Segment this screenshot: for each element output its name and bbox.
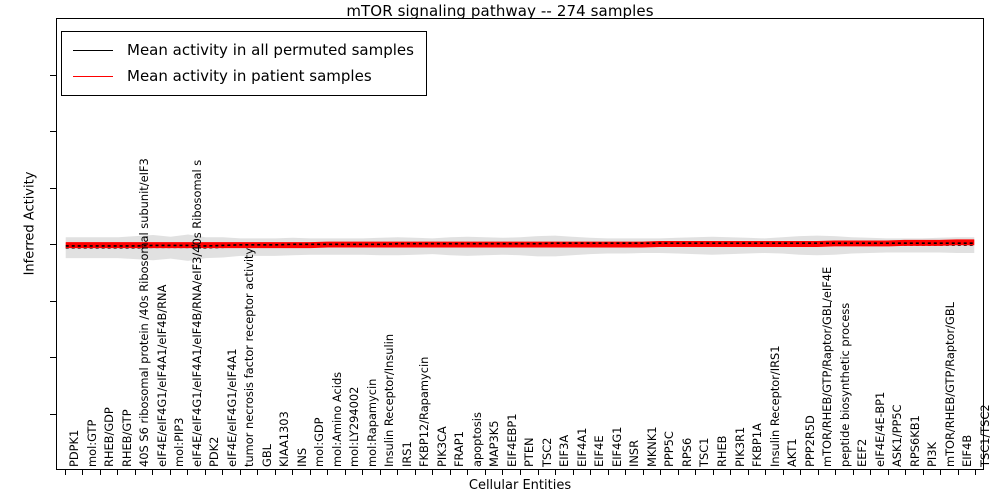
x-tick-label[interactable]: EIF4B xyxy=(962,435,973,467)
x-tick-label[interactable]: Insulin Receptor/IRS1 xyxy=(770,345,781,467)
x-tick-label[interactable]: RHEB xyxy=(717,436,728,468)
x-tick-mark xyxy=(835,470,836,475)
x-tick-label[interactable]: EEF2 xyxy=(857,439,868,467)
x-tick-mark xyxy=(380,470,381,475)
x-tick-label[interactable]: RPS6KB1 xyxy=(910,415,921,467)
x-tick-mark xyxy=(538,470,539,475)
x-tick-label[interactable]: PDK2 xyxy=(209,437,220,467)
x-tick-mark xyxy=(100,470,101,475)
x-tick-label[interactable]: PTEN xyxy=(524,437,535,467)
chart-figure: mTOR signaling pathway -- 274 samples −4… xyxy=(0,0,1000,500)
x-tick-label[interactable]: FKBP12/Rapamycin xyxy=(419,357,430,467)
legend-item-permuted[interactable]: Mean activity in all permuted samples xyxy=(71,37,414,63)
legend-label-permuted: Mean activity in all permuted samples xyxy=(127,41,414,59)
x-tick-mark xyxy=(432,470,433,475)
x-tick-mark xyxy=(678,470,679,475)
x-tick-mark xyxy=(853,470,854,475)
x-tick-mark xyxy=(818,470,819,475)
x-tick-mark xyxy=(555,470,556,475)
x-tick-label[interactable]: mol:GDP xyxy=(314,417,325,467)
x-tick-label[interactable]: eIF4E/eIF4G1/eIF4A1/eIF4B/RNA xyxy=(157,285,168,467)
x-tick-label[interactable]: EIF3A xyxy=(559,435,570,467)
x-tick-label[interactable]: PPP2R5D xyxy=(805,415,816,467)
x-tick-label[interactable]: EIF4E xyxy=(594,435,605,467)
x-tick-mark xyxy=(625,470,626,475)
x-tick-label[interactable]: PIK3R1 xyxy=(735,427,746,467)
x-tick-label[interactable]: PI3K xyxy=(927,442,938,467)
x-tick-label[interactable]: mol:Amino Acids xyxy=(332,372,343,467)
x-tick-mark xyxy=(152,470,153,475)
x-tick-label[interactable]: tumor necrosis factor receptor activity xyxy=(244,248,255,467)
legend[interactable]: Mean activity in all permuted samples Me… xyxy=(61,31,427,96)
x-tick-mark xyxy=(415,470,416,475)
x-tick-label[interactable]: peptide biosynthetic process xyxy=(840,303,851,467)
x-tick-label[interactable]: INS xyxy=(297,448,308,467)
x-tick-label[interactable]: INSR xyxy=(629,440,640,467)
x-tick-mark xyxy=(643,470,644,475)
x-tick-label[interactable]: EIF4A1 xyxy=(577,428,588,467)
x-tick-mark xyxy=(240,470,241,475)
x-tick-mark xyxy=(940,470,941,475)
x-tick-mark xyxy=(275,470,276,475)
x-tick-label[interactable]: 40S S6 ribosomal protein /40s Ribosomal … xyxy=(139,158,150,467)
x-tick-label[interactable]: MAP3K5 xyxy=(489,421,500,467)
legend-line-icon-patient xyxy=(71,69,115,83)
x-tick-label[interactable]: ASK1/PP5C xyxy=(892,404,903,467)
x-tick-mark xyxy=(800,470,801,475)
x-tick-mark xyxy=(975,470,976,475)
x-tick-mark xyxy=(608,470,609,475)
x-tick-mark xyxy=(187,470,188,475)
x-tick-mark xyxy=(82,470,83,475)
x-tick-mark xyxy=(923,470,924,475)
x-tick-mark xyxy=(485,470,486,475)
x-tick-mark xyxy=(888,470,889,475)
x-tick-label[interactable]: PIK3CA xyxy=(437,426,448,467)
x-tick-mark xyxy=(117,470,118,475)
x-tick-mark xyxy=(870,470,871,475)
x-tick-label[interactable]: FRAP1 xyxy=(454,431,465,467)
legend-line-icon-permuted xyxy=(71,43,115,57)
x-tick-mark xyxy=(362,470,363,475)
x-tick-label[interactable]: KIAA1303 xyxy=(279,411,290,467)
x-tick-mark xyxy=(345,470,346,475)
x-tick-label[interactable]: mol:PIP3 xyxy=(174,418,185,467)
x-tick-label[interactable]: RHEB/GTP xyxy=(122,409,133,467)
x-tick-mark xyxy=(590,470,591,475)
x-tick-mark xyxy=(327,470,328,475)
x-tick-label[interactable]: apoptosis xyxy=(472,412,483,467)
x-tick-label[interactable]: mol:LY294002 xyxy=(349,387,360,467)
x-tick-label[interactable]: RPS6 xyxy=(682,438,693,467)
x-tick-label[interactable]: eIF4E/eIF4G1/eIF4A1/eIF4B/RNA/eIF3/40s R… xyxy=(192,160,203,467)
x-tick-label[interactable]: eIF4E/eIF4G1/eIF4A1 xyxy=(227,349,238,467)
x-tick-mark xyxy=(205,470,206,475)
x-tick-mark xyxy=(292,470,293,475)
x-tick-label[interactable]: EIF4EBP1 xyxy=(507,414,518,467)
x-tick-label[interactable]: PPP5C xyxy=(664,431,675,467)
x-tick-mark xyxy=(748,470,749,475)
x-tick-label[interactable]: mol:GTP xyxy=(87,420,98,467)
x-tick-label[interactable]: EIF4G1 xyxy=(612,427,623,467)
x-tick-mark xyxy=(450,470,451,475)
x-tick-label[interactable]: mol:Rapamycin xyxy=(367,379,378,467)
legend-label-patient: Mean activity in patient samples xyxy=(127,67,372,85)
x-tick-mark xyxy=(170,470,171,475)
x-tick-mark xyxy=(257,470,258,475)
x-tick-mark xyxy=(222,470,223,475)
legend-item-patient[interactable]: Mean activity in patient samples xyxy=(71,63,414,89)
x-tick-label[interactable]: eIF4E/4E-BP1 xyxy=(875,392,886,467)
x-tick-mark xyxy=(713,470,714,475)
x-tick-label[interactable]: MKNK1 xyxy=(647,426,658,467)
x-tick-label[interactable]: RHEB/GDP xyxy=(104,407,115,467)
x-tick-mark xyxy=(783,470,784,475)
x-tick-label[interactable]: PDPK1 xyxy=(69,430,80,467)
x-tick-mark xyxy=(397,470,398,475)
x-tick-label[interactable]: FKBP1A xyxy=(752,423,763,467)
x-tick-label[interactable]: TSC1 xyxy=(699,438,710,467)
x-tick-mark xyxy=(520,470,521,475)
x-tick-mark xyxy=(310,470,311,475)
x-tick-label[interactable]: mTOR/RHEB/GTP/Raptor/GBL/eIF4E xyxy=(822,267,833,467)
x-tick-mark xyxy=(730,470,731,475)
x-tick-label[interactable]: GBL xyxy=(262,444,273,467)
x-axis-title: Cellular Entities xyxy=(56,478,984,493)
x-tick-mark xyxy=(65,470,66,475)
x-tick-label[interactable]: TSC2 xyxy=(542,438,553,467)
x-tick-mark xyxy=(660,470,661,475)
x-tick-mark xyxy=(905,470,906,475)
x-tick-label[interactable]: Insulin Receptor/Insulin xyxy=(384,334,395,467)
x-tick-mark xyxy=(573,470,574,475)
x-tick-mark xyxy=(502,470,503,475)
x-tick-mark xyxy=(765,470,766,475)
x-tick-label[interactable]: IRS1 xyxy=(402,441,413,467)
x-tick-mark xyxy=(135,470,136,475)
x-tick-label[interactable]: mTOR/RHEB/GTP/Raptor/GBL xyxy=(945,302,956,467)
x-tick-mark xyxy=(958,470,959,475)
x-tick-label[interactable]: AKT1 xyxy=(787,438,798,467)
x-tick-label[interactable]: TSC1/TSC2 xyxy=(980,404,991,467)
x-tick-mark xyxy=(467,470,468,475)
x-tick-mark xyxy=(695,470,696,475)
